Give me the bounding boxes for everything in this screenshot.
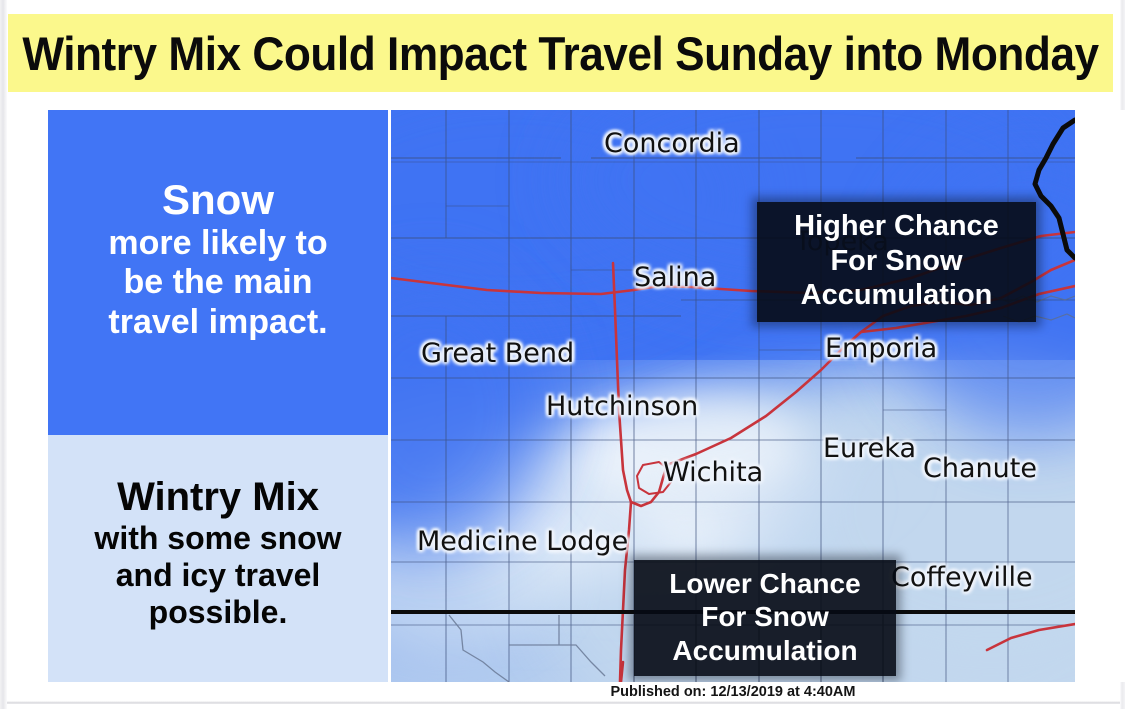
callout-higher-line-2: For Snow (773, 244, 1020, 279)
callout-lower-chance: Lower Chance For Snow Accumulation (634, 560, 896, 676)
left-window-edge (0, 0, 7, 709)
snow-panel-body-line-2: be the main (108, 263, 327, 302)
callout-higher-chance: Higher Chance For Snow Accumulation (757, 202, 1036, 322)
published-timestamp: Published on: 12/13/2019 at 4:40AM (391, 684, 1075, 700)
snow-impact-panel: Snow more likely to be the main travel i… (48, 110, 388, 435)
bottom-divider (7, 701, 1120, 704)
map-right-gutter (1075, 110, 1125, 682)
callout-lower-line-2: For Snow (650, 600, 880, 633)
title-banner: Wintry Mix Could Impact Travel Sunday in… (8, 14, 1113, 92)
wintry-mix-panel-body-line-2: and icy travel (94, 557, 341, 594)
snow-probability-map: Concordia Salina Topeka Great Bend Empor… (391, 110, 1075, 682)
callout-lower-line-1: Lower Chance (650, 567, 880, 600)
callout-lower-line-3: Accumulation (650, 634, 880, 667)
callout-higher-line-3: Accumulation (773, 278, 1020, 313)
wintry-mix-panel-body-line-3: possible. (94, 594, 341, 631)
callout-higher-line-1: Higher Chance (773, 209, 1020, 244)
wintry-mix-panel-heading: Wintry Mix (117, 477, 319, 518)
snow-panel-body-line-3: travel impact. (108, 303, 327, 342)
weather-graphic-page: Wintry Mix Could Impact Travel Sunday in… (0, 0, 1125, 709)
wintry-mix-panel-body-line-1: with some snow (94, 520, 341, 557)
snow-panel-body-line-1: more likely to (108, 224, 327, 263)
snow-panel-heading: Snow (162, 179, 274, 222)
snow-panel-body: more likely to be the main travel impact… (108, 224, 327, 342)
wintry-mix-impact-panel: Wintry Mix with some snow and icy travel… (48, 435, 388, 682)
page-title: Wintry Mix Could Impact Travel Sunday in… (22, 30, 1098, 77)
impact-summary-column: Snow more likely to be the main travel i… (48, 110, 388, 682)
wintry-mix-panel-body: with some snow and icy travel possible. (94, 520, 341, 631)
